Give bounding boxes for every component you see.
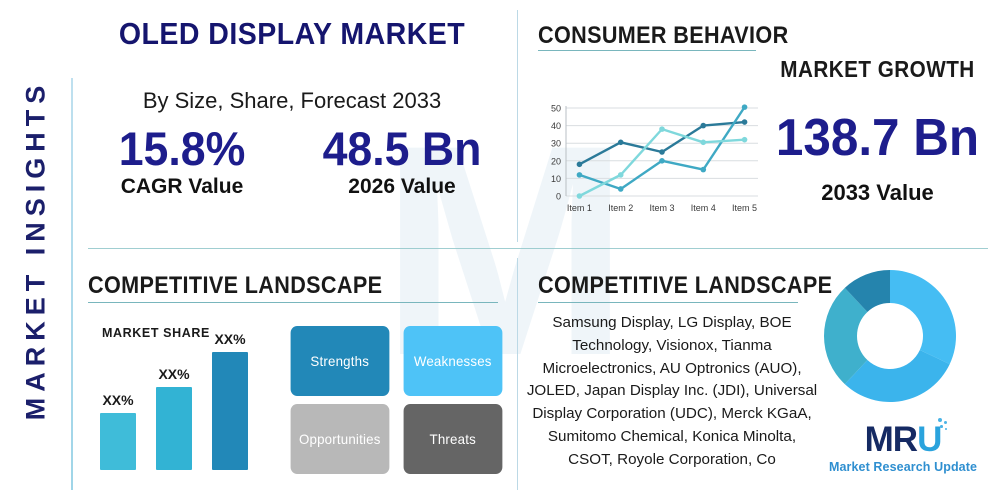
consumer-behavior-underline bbox=[538, 50, 756, 51]
donut-segment bbox=[890, 270, 956, 364]
logo-letter-m: M bbox=[865, 420, 893, 459]
data-point bbox=[659, 126, 665, 132]
x-axis-tick-label: Item 3 bbox=[649, 203, 674, 213]
y-axis-tick-label: 40 bbox=[551, 121, 561, 131]
kpi-cagr-label: CAGR Value bbox=[72, 175, 292, 199]
page-subtitle: By Size, Share, Forecast 2033 bbox=[72, 88, 512, 114]
data-point bbox=[700, 167, 706, 173]
horizontal-divider bbox=[88, 248, 988, 249]
bar-column: XX% bbox=[100, 413, 136, 470]
swot-cell-threats[interactable]: Threats bbox=[403, 404, 501, 474]
brand-logo: MRU Market Research Update bbox=[828, 422, 978, 474]
kpi-2026-value: 48.5 Bn bbox=[298, 124, 507, 173]
y-axis-tick-label: 20 bbox=[551, 156, 561, 166]
bar-value-label: XX% bbox=[158, 366, 189, 382]
bar-value-label: XX% bbox=[214, 331, 245, 347]
data-point bbox=[742, 119, 748, 125]
consumer-behavior-heading: CONSUMER BEHAVIOR bbox=[538, 22, 789, 50]
x-axis-tick-label: Item 5 bbox=[732, 203, 757, 213]
market-growth-value: 138.7 Bn bbox=[766, 108, 989, 168]
side-label-text: MARKET INSIGHTS bbox=[21, 80, 52, 421]
x-axis-tick-label: Item 4 bbox=[691, 203, 716, 213]
competitive-landscape-right-underline bbox=[538, 302, 798, 303]
bar-column: XX% bbox=[212, 352, 248, 470]
logo-letter-r: R bbox=[893, 420, 917, 459]
kpi-cagr: 15.8% CAGR Value bbox=[72, 124, 292, 199]
y-axis-tick-label: 10 bbox=[551, 174, 561, 184]
competitive-landscape-right-heading: COMPETITIVE LANDSCAPE bbox=[538, 272, 832, 300]
kpi-2026: 48.5 Bn 2026 Value bbox=[292, 124, 512, 199]
kpi-2026-label: 2026 Value bbox=[292, 175, 512, 199]
line-chart-svg: 01020304050Item 1Item 2Item 3Item 4Item … bbox=[540, 100, 762, 218]
bar-value-label: XX% bbox=[102, 392, 133, 408]
market-growth-heading: MARKET GROWTH bbox=[772, 56, 984, 83]
consumer-behavior-line-chart: 01020304050Item 1Item 2Item 3Item 4Item … bbox=[540, 100, 762, 218]
competitive-landscape-left-underline bbox=[88, 302, 498, 303]
swot-cell-strengths[interactable]: Strengths bbox=[291, 326, 389, 396]
logo-dots-icon bbox=[938, 418, 950, 434]
infographic-root: M MARKET INSIGHTS OLED DISPLAY MARKET By… bbox=[0, 0, 1000, 500]
bar bbox=[156, 387, 192, 470]
data-point bbox=[618, 140, 624, 146]
data-point bbox=[700, 140, 706, 146]
line-series bbox=[579, 107, 744, 189]
market-share-label: MARKET SHARE bbox=[102, 326, 210, 340]
data-point bbox=[577, 172, 583, 178]
data-point bbox=[618, 172, 624, 178]
data-point bbox=[700, 123, 706, 129]
data-point bbox=[742, 137, 748, 143]
x-axis-tick-label: Item 2 bbox=[608, 203, 633, 213]
x-axis-tick-label: Item 1 bbox=[567, 203, 592, 213]
data-point bbox=[659, 149, 665, 155]
market-share-bar-chart: XX%XX%XX% bbox=[100, 340, 280, 470]
market-growth-label: 2033 Value bbox=[760, 180, 995, 206]
y-axis-tick-label: 50 bbox=[551, 104, 561, 114]
company-list: Samsung Display, LG Display, BOE Technol… bbox=[524, 312, 820, 472]
kpi-row: 15.8% CAGR Value 48.5 Bn 2026 Value bbox=[72, 124, 512, 199]
page-title: OLED DISPLAY MARKET bbox=[90, 16, 495, 52]
swot-cell-opportunities[interactable]: Opportunities bbox=[291, 404, 389, 474]
competitive-landscape-left-heading: COMPETITIVE LANDSCAPE bbox=[88, 272, 382, 300]
side-label-band: MARKET INSIGHTS bbox=[0, 0, 72, 500]
y-axis-tick-label: 0 bbox=[556, 192, 561, 202]
swot-cell-weaknesses[interactable]: Weaknesses bbox=[403, 326, 501, 396]
market-share-donut-chart bbox=[822, 268, 958, 404]
data-point bbox=[577, 193, 583, 199]
data-point bbox=[659, 158, 665, 164]
donut-svg bbox=[822, 268, 958, 404]
swot-grid: StrengthsWeaknessesOpportunitiesThreats bbox=[288, 326, 504, 474]
bar bbox=[212, 352, 248, 470]
logo-tagline: Market Research Update bbox=[828, 460, 978, 474]
y-axis-tick-label: 30 bbox=[551, 139, 561, 149]
vertical-divider-bottom bbox=[517, 258, 518, 490]
bar-column: XX% bbox=[156, 387, 192, 470]
vertical-divider-top bbox=[517, 10, 518, 242]
data-point bbox=[577, 162, 583, 168]
kpi-cagr-value: 15.8% bbox=[78, 124, 287, 173]
bar bbox=[100, 413, 136, 470]
data-point bbox=[618, 186, 624, 192]
data-point bbox=[742, 104, 748, 110]
logo-mark: MRU bbox=[865, 422, 942, 457]
